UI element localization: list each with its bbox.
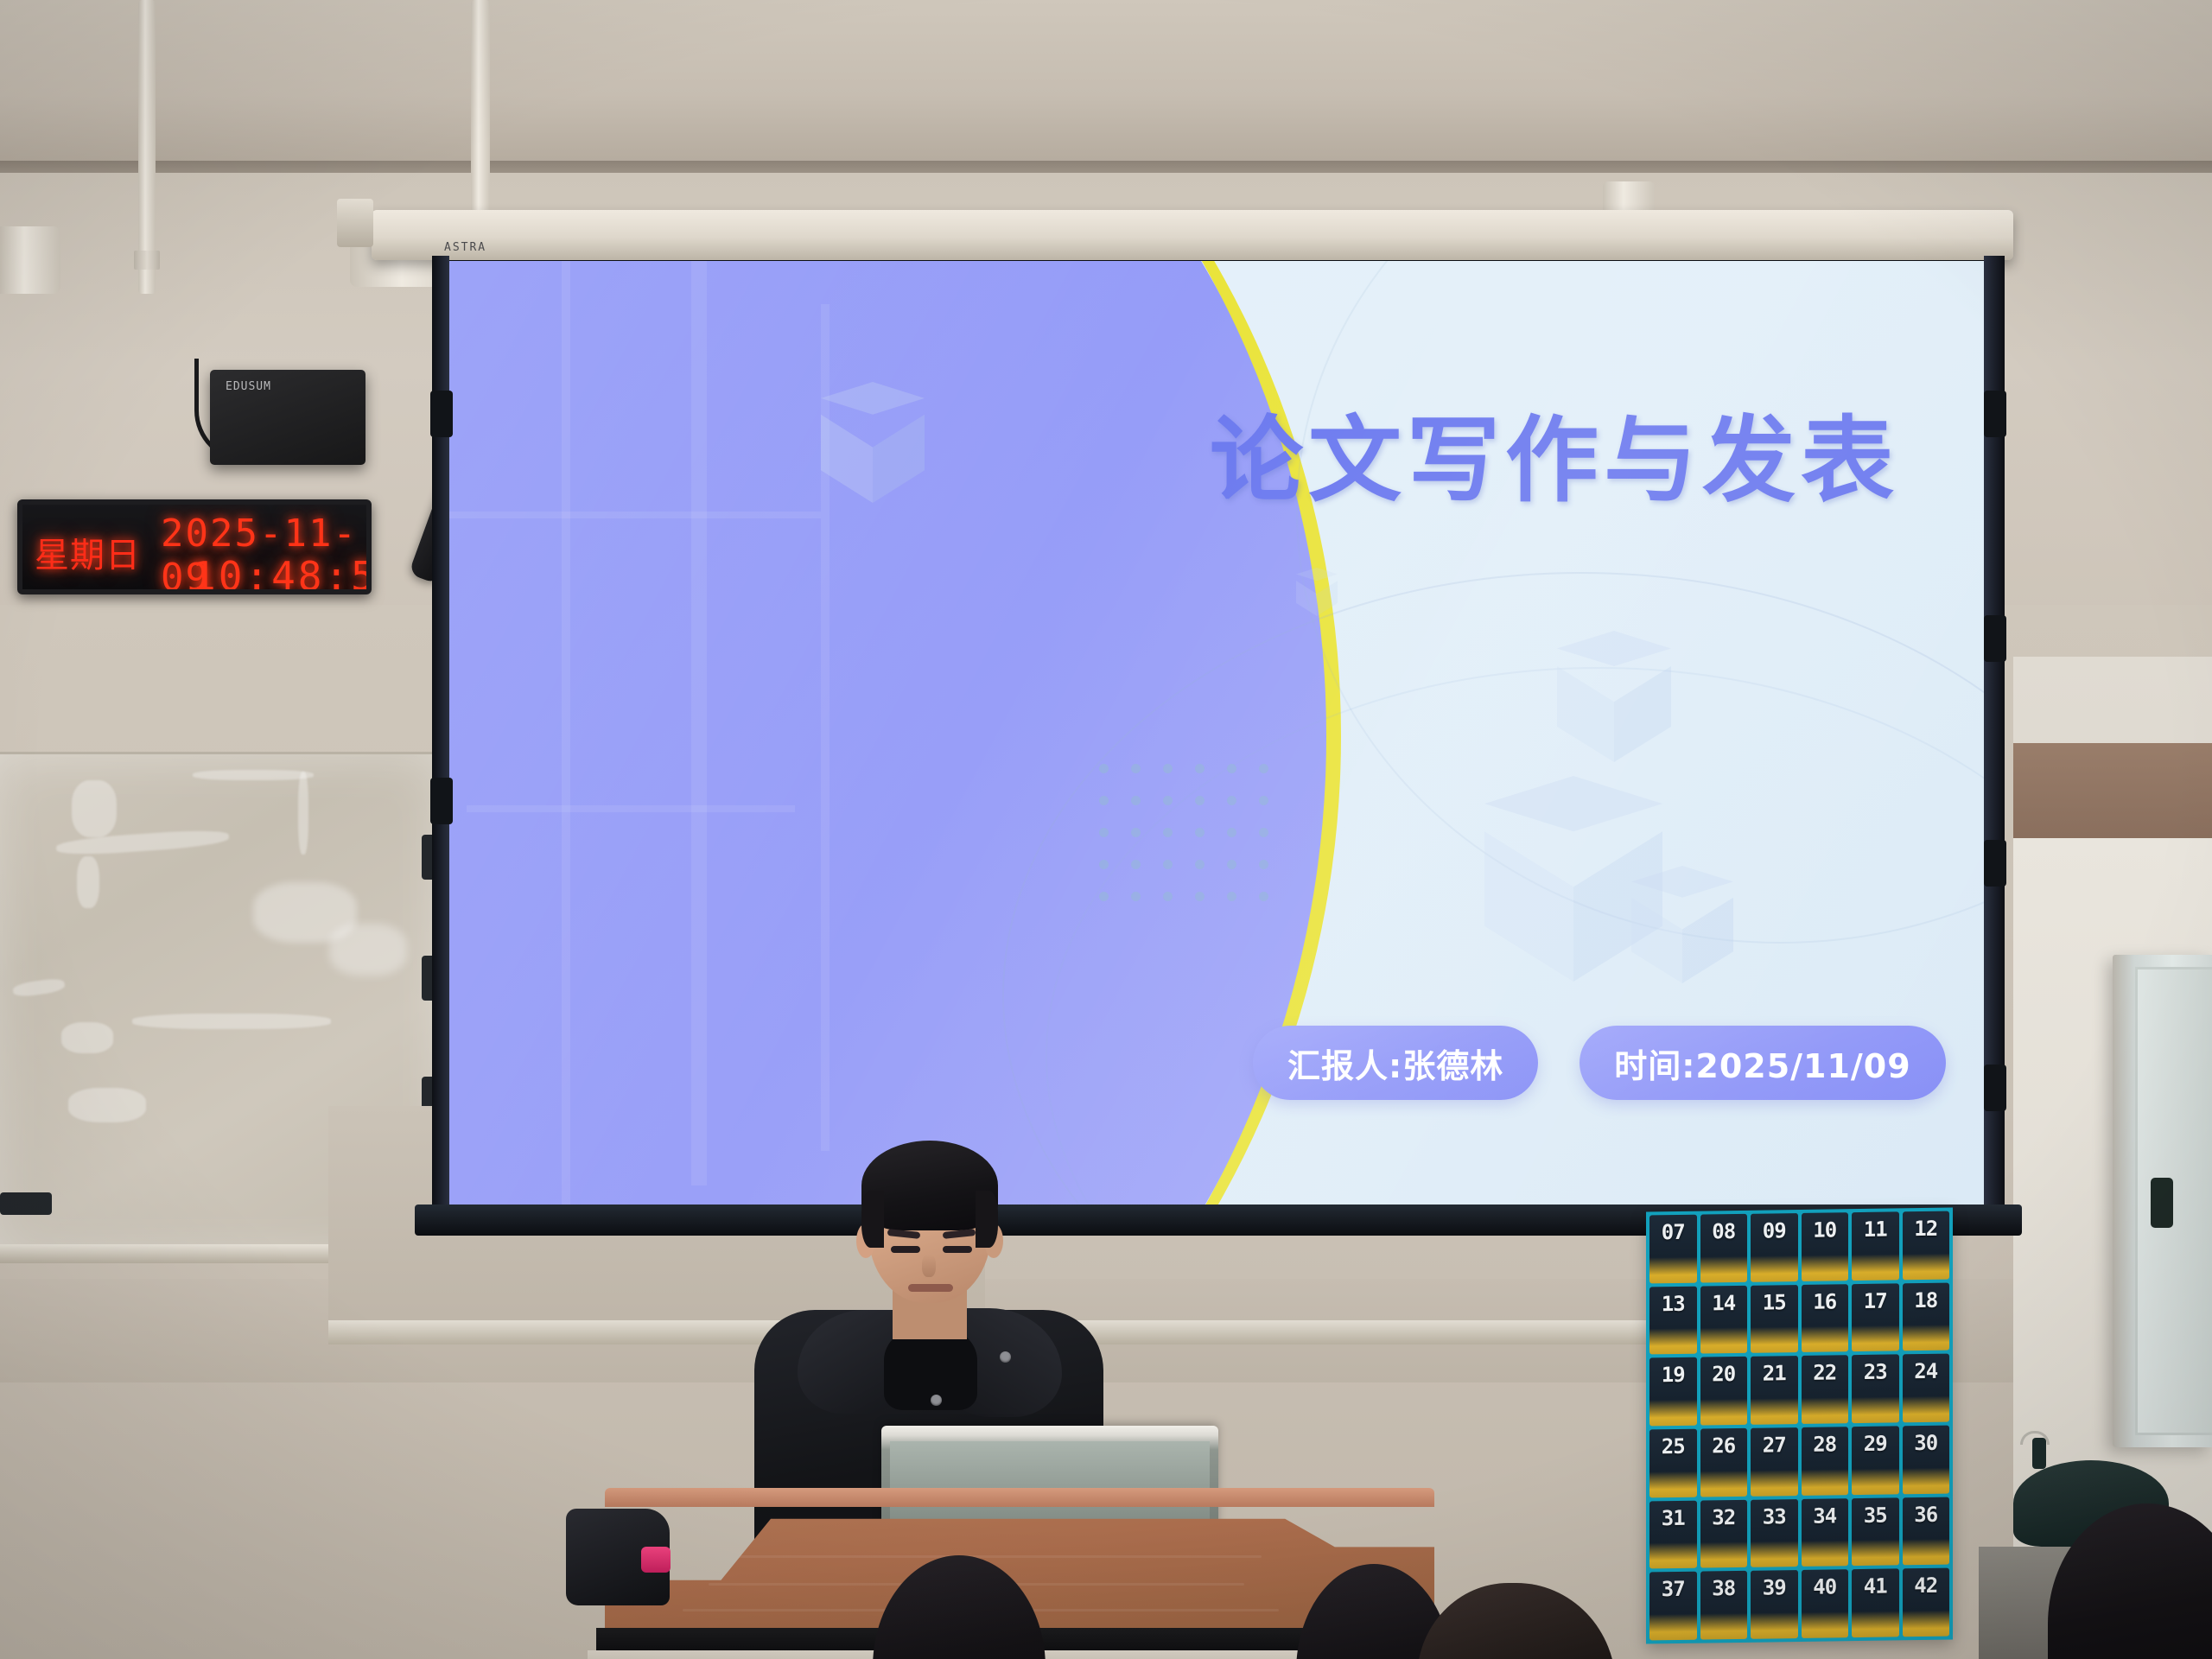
pocket-slot[interactable]: 26 [1700,1428,1748,1497]
pocket-slot[interactable]: 20 [1700,1357,1748,1425]
led-weekday: 星期日 [35,527,141,577]
pocket-number: 37 [1662,1577,1685,1601]
pink-item [641,1547,671,1573]
presenter-eye-left [891,1246,920,1253]
dot-decor [1163,764,1173,773]
dot-decor [1163,796,1173,805]
screen-tab-l2 [430,778,453,824]
pocket-number: 14 [1712,1291,1735,1315]
pocket-slot[interactable]: 19 [1649,1357,1697,1426]
pocket-slot[interactable]: 16 [1802,1284,1849,1352]
pocket-number: 41 [1864,1574,1887,1599]
pocket-slot[interactable]: 30 [1903,1426,1950,1494]
pocket-slot[interactable]: 27 [1751,1427,1798,1496]
podium-top-edge [605,1488,1434,1507]
presentation-slide: 论文写作与发表 汇报人:张德林 时间:2025/11/09 [449,261,1986,1205]
pocket-slot[interactable]: 33 [1751,1499,1798,1567]
pocket-slot[interactable]: 36 [1903,1497,1950,1565]
pocket-number: 33 [1763,1504,1786,1529]
pocket-number: 17 [1864,1288,1887,1313]
ceiling-conduit-left [138,0,156,294]
dot-decor [1163,860,1173,869]
dot-decor [1099,796,1109,805]
jacket-snap-center [931,1395,942,1406]
led-time: 10:48:53 [192,553,372,594]
pocket-slot[interactable]: 17 [1852,1283,1899,1351]
pocket-slot[interactable]: 34 [1802,1498,1849,1567]
presenter-hair-left [861,1191,884,1248]
pocket-slot[interactable]: 37 [1649,1572,1697,1640]
pocket-number: 40 [1813,1575,1836,1599]
pocket-number: 34 [1813,1503,1836,1528]
pocket-number: 28 [1813,1432,1836,1456]
pocket-number: 32 [1712,1505,1735,1529]
pocket-number: 42 [1914,1573,1937,1598]
pocket-number: 15 [1763,1290,1786,1314]
dot-decor [1259,828,1268,837]
pocket-number: 27 [1763,1433,1786,1457]
pocket-slot[interactable]: 41 [1852,1569,1899,1637]
dot-decor [1099,828,1109,837]
dot-decor [1259,796,1268,805]
dot-decor [1227,828,1236,837]
ceiling [0,0,2212,173]
pocket-number: 31 [1662,1506,1685,1530]
dot-decor [1131,828,1141,837]
pocket-number: 39 [1763,1576,1786,1600]
pocket-slot[interactable]: 31 [1649,1500,1697,1568]
slide-title: 论文写作与发表 [1210,385,1899,520]
dot-decor [1195,860,1205,869]
dot-decor [1099,764,1109,773]
screen-tab-2 [1984,615,2006,662]
pocket-slot[interactable]: 18 [1903,1282,1950,1351]
electrical-cabinet[interactable] [2113,955,2212,1447]
pocket-slot[interactable]: 14 [1700,1286,1748,1354]
cabinet-door[interactable] [2135,967,2212,1435]
pocket-number: 22 [1813,1361,1836,1385]
pocket-number: 16 [1813,1289,1836,1313]
presenter-pill: 汇报人:张德林 [1253,1026,1538,1100]
slide-meta-pills: 汇报人:张德林 时间:2025/11/09 [1253,1026,1946,1100]
screen-tab-4 [1984,1065,2006,1111]
dot-decor [1131,860,1141,869]
pocket-number: 25 [1662,1434,1685,1459]
pocket-slot[interactable]: 40 [1802,1570,1849,1638]
dot-decor [1099,860,1109,869]
dot-decor [1131,764,1141,773]
pocket-slot[interactable]: 22 [1802,1356,1849,1424]
pocket-slot[interactable]: 42 [1903,1568,1950,1637]
pocket-slot[interactable]: 32 [1700,1500,1748,1568]
pocket-number: 09 [1763,1218,1786,1243]
pocket-number: 11 [1864,1217,1887,1242]
screen-mount-bracket [337,199,373,247]
pocket-slot[interactable]: 21 [1751,1356,1798,1424]
dot-decor [1227,764,1236,773]
jacket-snap-side [1000,1351,1011,1363]
dot-decor [1195,892,1205,901]
wall-speaker: EDUSUM [210,370,365,465]
pocket-number: 13 [1662,1292,1685,1316]
dot-decor [1195,796,1205,805]
screen-brand-label: ASTRA [444,241,486,254]
pocket-slot[interactable]: 08 [1700,1214,1748,1282]
wall-bracket-far-left [0,226,60,294]
dot-decor [1259,860,1268,869]
classroom-scene: EDUSUM 星期日 2025-11-09 10:48:53 ASTRA [0,0,2212,1659]
pocket-slot[interactable]: 23 [1852,1355,1899,1423]
pocket-slot[interactable]: 25 [1649,1429,1697,1497]
screen-tab-3 [1984,840,2006,887]
date-pill: 时间:2025/11/09 [1580,1026,1945,1100]
pocket-number: 10 [1813,1217,1836,1242]
pocket-slot[interactable]: 11 [1852,1211,1899,1280]
pocket-slot[interactable]: 13 [1649,1286,1697,1354]
dot-decor [1163,828,1173,837]
wall-right-wood-trim [2013,743,2212,838]
pocket-number: 08 [1712,1219,1735,1243]
dot-decor [1099,892,1109,901]
pocket-slot[interactable]: 09 [1751,1213,1798,1281]
presenter-nose [922,1255,936,1277]
dot-grid-decor [1099,764,1268,901]
presenter-hair-right [976,1191,998,1248]
led-clock: 星期日 2025-11-09 10:48:53 [17,499,372,594]
dot-decor [1227,892,1236,901]
pocket-slot[interactable]: 39 [1751,1570,1798,1638]
pocket-number: 20 [1712,1362,1735,1386]
dot-decor [1195,828,1205,837]
pocket-number: 07 [1662,1220,1685,1244]
pocket-number: 21 [1763,1362,1786,1386]
pocket-slot[interactable]: 15 [1751,1285,1798,1353]
dot-decor [1259,764,1268,773]
pocket-slot[interactable]: 35 [1852,1497,1899,1566]
dot-decor [1131,892,1141,901]
screen-tab-1 [1984,391,2006,437]
pocket-slot[interactable]: 12 [1903,1211,1950,1280]
pocket-slot[interactable]: 07 [1649,1215,1697,1283]
phone-pocket-organizer: 0708091011121314151617181920212223242526… [1646,1208,1953,1644]
board-clip-bottom-left [0,1192,52,1215]
pocket-slot[interactable]: 24 [1903,1354,1950,1422]
conduit-band-left [134,251,160,270]
cube-decor-mid [1557,631,1671,762]
pocket-number: 29 [1864,1432,1887,1456]
presenter-eye-right [943,1246,972,1253]
pocket-number: 19 [1662,1363,1685,1387]
pocket-slot[interactable]: 29 [1852,1426,1899,1494]
dot-decor [1227,796,1236,805]
cube-decor-top [821,382,925,503]
pocket-number: 26 [1712,1433,1735,1458]
pocket-slot[interactable]: 38 [1700,1571,1748,1639]
cube-decor-tiny [1296,568,1338,616]
dot-decor [1227,860,1236,869]
pocket-number: 24 [1914,1359,1937,1383]
pocket-slot[interactable]: 10 [1802,1212,1849,1281]
pocket-number: 12 [1914,1217,1937,1241]
pocket-number: 35 [1864,1503,1887,1527]
pocket-number: 18 [1914,1287,1937,1312]
dot-decor [1131,796,1141,805]
pocket-number: 38 [1712,1576,1735,1600]
pocket-number: 36 [1914,1502,1937,1526]
pocket-number: 30 [1914,1431,1937,1455]
pocket-number: 23 [1864,1360,1887,1384]
projector-screen-housing: ASTRA [372,210,2013,260]
screen-tab-l1 [430,391,453,437]
dot-decor [1259,892,1268,901]
cube-decor-small [1631,866,1733,983]
cabinet-handle-icon[interactable] [2151,1178,2173,1228]
dot-decor [1163,892,1173,901]
dot-decor [1195,764,1205,773]
speaker-brand-label: EDUSUM [226,380,271,393]
presenter-mouth [908,1284,953,1292]
pocket-slot[interactable]: 28 [1802,1427,1849,1495]
